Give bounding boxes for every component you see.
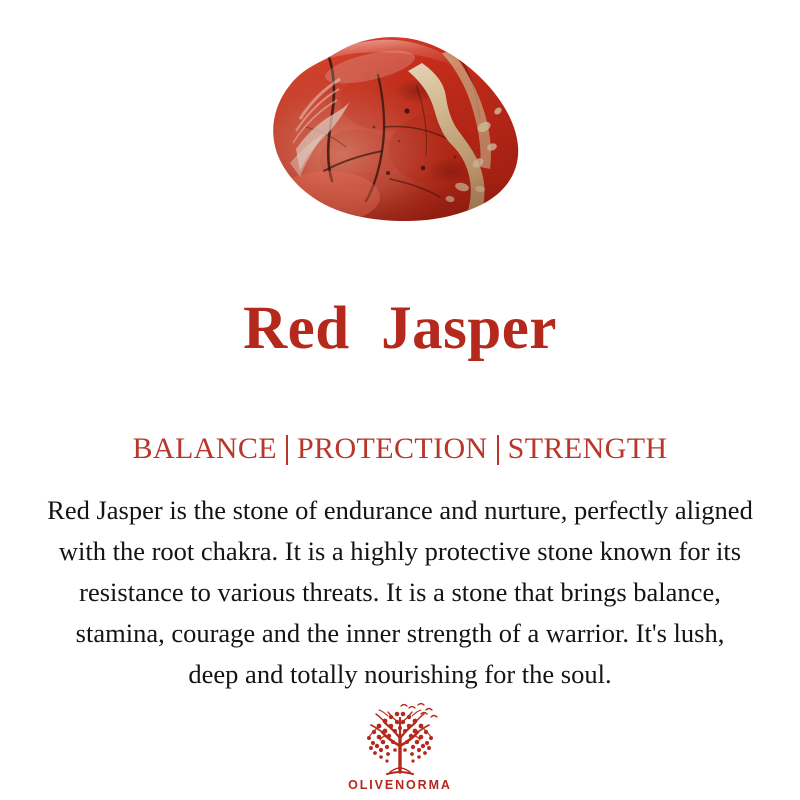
page-title: Red Jasper bbox=[243, 298, 557, 359]
tree-of-life-icon bbox=[357, 702, 443, 776]
attribute-separator bbox=[497, 435, 499, 465]
description-line: resistance to various threats. It is a s… bbox=[5, 572, 795, 613]
attribute-strength: STRENGTH bbox=[508, 434, 668, 464]
description-line: deep and totally nourishing for the soul… bbox=[5, 654, 795, 695]
tree-birds bbox=[401, 704, 437, 718]
attribute-protection: PROTECTION bbox=[297, 434, 488, 464]
attributes-line: BALANCE PROTECTION STRENGTH bbox=[132, 434, 667, 464]
product-info-card: Red Jasper BALANCE PROTECTION STRENGTH R… bbox=[0, 0, 800, 800]
brand-name: OLIVENORMA bbox=[348, 778, 452, 792]
description-line: Red Jasper is the stone of endurance and… bbox=[5, 490, 795, 531]
tree-branches bbox=[368, 710, 432, 774]
red-jasper-stone-image bbox=[266, 31, 534, 231]
attribute-separator bbox=[286, 435, 288, 465]
stone-body bbox=[266, 31, 534, 231]
brand-logo: OLIVENORMA bbox=[0, 702, 800, 792]
attribute-balance: BALANCE bbox=[132, 434, 276, 464]
description-line: stamina, courage and the inner strength … bbox=[5, 613, 795, 654]
description-line: with the root chakra. It is a highly pro… bbox=[5, 531, 795, 572]
product-image-container bbox=[0, 0, 800, 262]
description-paragraph: Red Jasper is the stone of endurance and… bbox=[5, 490, 795, 695]
stone-lower-glow bbox=[276, 171, 380, 223]
